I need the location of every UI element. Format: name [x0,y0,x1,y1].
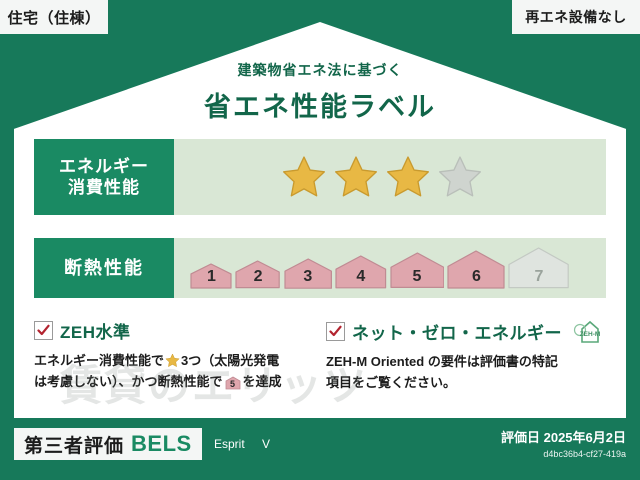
evaluation-date: 評価日 2025年6月2日 [501,427,626,446]
renewable-equipment-tag: 再エネ設備なし [512,0,640,34]
evaluation-id: d4bc36b4-cf27-419a [501,449,626,459]
inline-star-icon [165,353,180,368]
svg-text:ZEH-M: ZEH-M [580,331,601,338]
net-zero-text-line1: ZEH-M Oriented の要件は評価書の特記 [326,354,558,369]
title-subtitle: 建築物省エネ法に基づく [14,60,626,80]
insulation-level-badge: 6 [447,250,505,289]
insulation-level-badge: 2 [235,260,280,289]
renewable-equipment-tag-label: 再エネ設備なし [525,7,627,27]
insulation-level-badge: 5 [390,252,445,288]
label-content: 建築物省エネ法に基づく 省エネ性能ラベル エネルギー 消費性能 断熱性能 123… [14,22,626,418]
insulation-performance-label-box: 断熱性能 [34,238,174,298]
net-zero-text-line2: 項目をご覧ください。 [326,375,456,390]
insulation-level-badge: 1 [190,263,232,289]
insulation-level-badge: 7 [508,247,569,289]
zeh-text-part3: は考慮しない）、かつ断熱性能で [34,374,223,389]
energy-label-line1: エネルギー [59,156,149,177]
insulation-level-badge: 3 [284,258,332,289]
evaluation-info: 評価日 2025年6月2日 d4bc36b4-cf27-419a [501,427,626,459]
energy-label-line2: 消費性能 [68,177,140,198]
esprit-suffix: V [262,437,270,451]
zeh-standard-body: エネルギー消費性能で3つ（太陽光発電は考慮しない）、かつ断熱性能で5を達成 [34,350,316,397]
zeh-text-part1: エネルギー消費性能で [34,353,164,368]
insulation-level-value: 3 [284,268,332,286]
insulation-level-badge: 4 [335,255,387,289]
energy-performance-row: エネルギー 消費性能 [34,139,606,215]
inline-badge-value: 5 [225,377,241,392]
inline-insulation-badge: 5 [225,375,241,396]
insulation-level-value: 5 [390,268,445,286]
esprit-brand: Esprit V [214,437,270,451]
star-filled-icon [281,154,327,200]
footer-bar: 第三者評価 BELS Esprit V 評価日 2025年6月2日 d4bc36… [0,422,640,480]
energy-performance-label: 住宅（住棟） 再エネ設備なし 建築物省エネ法に基づく 省エネ性能ラベル エネルギ… [0,0,640,480]
bels-jp-label: 第三者評価 [24,431,124,458]
bels-certification-chip: 第三者評価 BELS [14,428,202,460]
esprit-label: Esprit [214,437,245,451]
energy-performance-label-box: エネルギー 消費性能 [34,139,174,215]
zeh-standard-checkbox [34,321,53,340]
star-rating [281,154,483,200]
insulation-level-value: 7 [508,268,569,286]
insulation-level-value: 1 [190,268,232,286]
net-zero-energy-checkbox [326,322,345,341]
check-icon [37,324,50,337]
zeh-standard-heading: ZEH水準 [34,318,316,343]
net-zero-energy-heading: ネット・ゼロ・エネルギー ZEH-M [326,318,608,344]
page-title: 建築物省エネ法に基づく 省エネ性能ラベル [14,60,626,124]
zeh-text-part2: 3つ（太陽光発電 [181,353,279,368]
bels-en-label: BELS [131,431,192,457]
net-zero-energy-title: ネット・ゼロ・エネルギー [352,319,562,344]
insulation-level-value: 6 [447,268,505,286]
zeh-m-logo-icon: ZEH-M [573,318,607,344]
zeh-standard-note: ZEH水準 エネルギー消費性能で3つ（太陽光発電は考慮しない）、かつ断熱性能で5… [34,318,316,397]
star-filled-icon [385,154,431,200]
title-main: 省エネ性能ラベル [14,85,626,124]
check-icon [329,325,342,338]
building-type-tag: 住宅（住棟） [0,0,108,34]
zeh-standard-title: ZEH水準 [60,318,131,343]
net-zero-energy-note: ネット・ゼロ・エネルギー ZEH-M ZEH-M Oriented の要件は評価… [326,318,608,394]
zeh-text-part4: を達成 [243,374,282,389]
insulation-level-badges: 1234567 [190,247,569,289]
energy-rating-area [174,139,606,215]
insulation-rating-area: 1234567 [174,238,606,298]
star-filled-icon [333,154,379,200]
star-empty-icon [437,154,483,200]
building-type-tag-label: 住宅（住棟） [7,7,100,28]
net-zero-energy-body: ZEH-M Oriented の要件は評価書の特記 項目をご覧ください。 [326,351,608,394]
insulation-label-text: 断熱性能 [64,257,144,280]
insulation-performance-row: 断熱性能 1234567 [34,238,606,298]
insulation-level-value: 2 [235,268,280,286]
insulation-level-value: 4 [335,268,387,286]
